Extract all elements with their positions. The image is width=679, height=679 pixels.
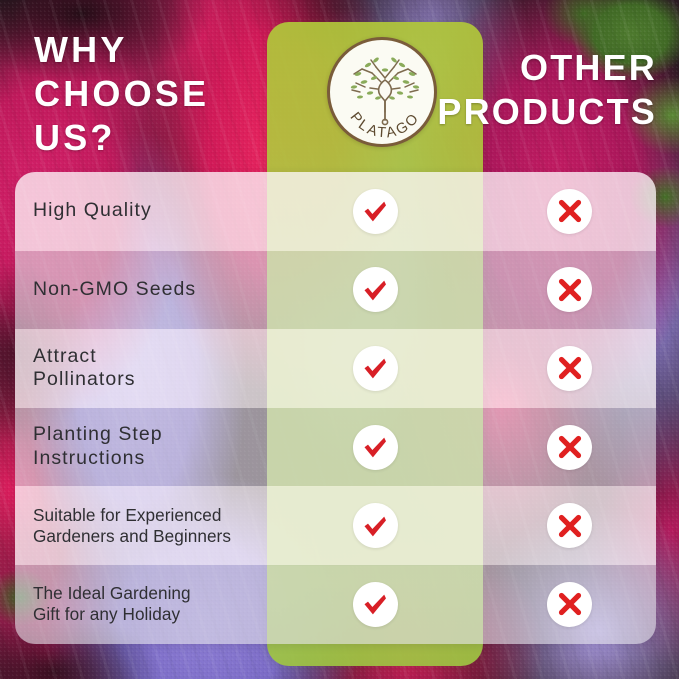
check-icon — [360, 275, 390, 305]
ours-cell — [267, 251, 483, 330]
check-icon — [360, 511, 390, 541]
cross-icon — [555, 196, 585, 226]
theirs-cell — [483, 408, 656, 487]
ours-mark — [353, 267, 398, 312]
feature-label: Planting Step Instructions — [15, 423, 267, 471]
table-row: The Ideal Gardening Gift for any Holiday — [15, 565, 656, 644]
check-icon — [360, 432, 390, 462]
ours-cell — [267, 408, 483, 487]
table-row: Non-GMO Seeds — [15, 251, 656, 330]
comparison-poster: WHY CHOOSE US? OTHER PRODUCTS — [0, 0, 679, 679]
table-row: Planting Step Instructions — [15, 408, 656, 487]
theirs-mark — [547, 425, 592, 470]
feature-label: Attract Pollinators — [15, 345, 267, 393]
cross-icon — [555, 589, 585, 619]
other-products-title: OTHER PRODUCTS — [437, 46, 657, 134]
theirs-cell — [483, 251, 656, 330]
cross-icon — [555, 275, 585, 305]
check-icon — [360, 589, 390, 619]
ours-mark — [353, 503, 398, 548]
theirs-cell — [483, 486, 656, 565]
page-title: WHY CHOOSE US? — [34, 28, 209, 160]
tree-with-shovel-icon: PLATAGO — [330, 40, 440, 150]
ours-cell — [267, 329, 483, 408]
cross-icon — [555, 432, 585, 462]
ours-cell — [267, 172, 483, 251]
ours-mark — [353, 425, 398, 470]
feature-label: Suitable for Experienced Gardeners and B… — [15, 505, 267, 547]
ours-cell — [267, 486, 483, 565]
feature-comparison-table: High Quality Non-GMO Seeds — [15, 172, 656, 644]
feature-label: Non-GMO Seeds — [15, 278, 267, 302]
ours-mark — [353, 346, 398, 391]
ours-cell — [267, 565, 483, 644]
feature-label: The Ideal Gardening Gift for any Holiday — [15, 583, 267, 625]
theirs-mark — [547, 582, 592, 627]
check-icon — [360, 196, 390, 226]
table-row: High Quality — [15, 172, 656, 251]
feature-label: High Quality — [15, 199, 267, 223]
table-row: Suitable for Experienced Gardeners and B… — [15, 486, 656, 565]
table-row: Attract Pollinators — [15, 329, 656, 408]
theirs-cell — [483, 172, 656, 251]
theirs-cell — [483, 329, 656, 408]
theirs-mark — [547, 189, 592, 234]
theirs-mark — [547, 503, 592, 548]
ours-mark — [353, 582, 398, 627]
theirs-mark — [547, 346, 592, 391]
theirs-cell — [483, 565, 656, 644]
brand-logo: PLATAGO — [327, 37, 437, 147]
check-icon — [360, 353, 390, 383]
cross-icon — [555, 511, 585, 541]
cross-icon — [555, 353, 585, 383]
ours-mark — [353, 189, 398, 234]
theirs-mark — [547, 267, 592, 312]
